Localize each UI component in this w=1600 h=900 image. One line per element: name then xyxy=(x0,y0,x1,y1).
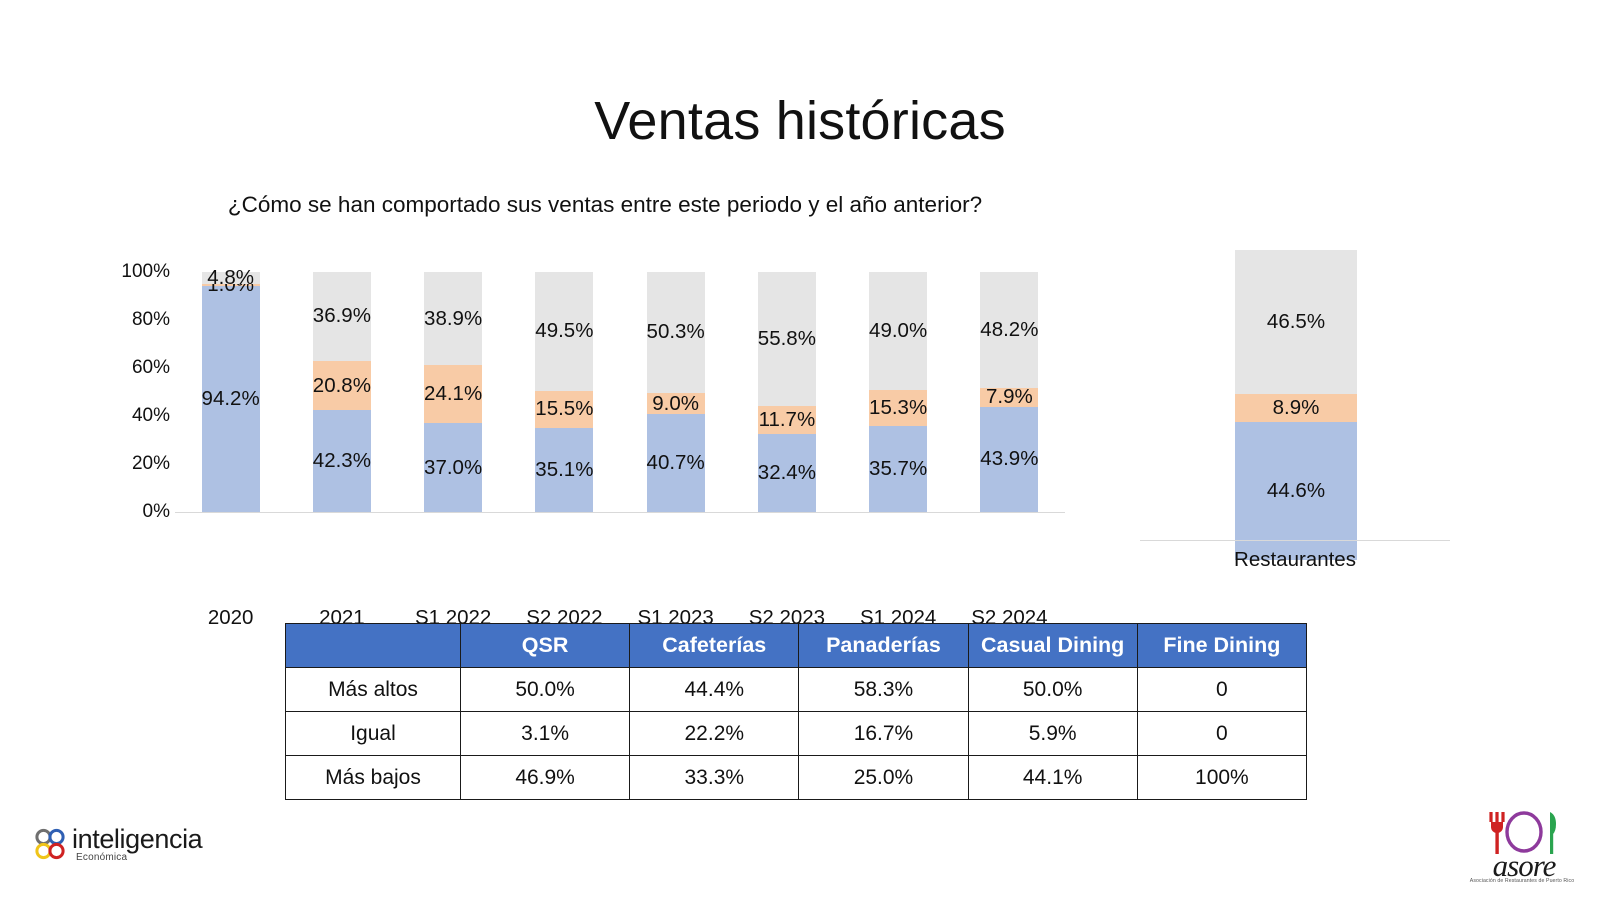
y-axis-tick: 40% xyxy=(90,405,170,427)
chart-subtitle: ¿Cómo se han comportado sus ventas entre… xyxy=(210,190,1000,220)
bar-segment-igual: 11.7% xyxy=(758,406,816,434)
y-axis-tick: 20% xyxy=(90,453,170,475)
right-category-label: Restaurantes xyxy=(1135,548,1455,572)
bar-segment-label: 20.8% xyxy=(313,375,371,396)
table-column-header: Fine Dining xyxy=(1137,624,1306,668)
right-bar-segment-label: 46.5% xyxy=(1267,312,1325,333)
bar-segment-igual: 24.1% xyxy=(424,365,482,423)
bar-group: 42.3%20.8%36.9%2021 xyxy=(286,272,397,512)
bar-segment-bajas: 42.3% xyxy=(313,410,371,512)
table-header-row: QSRCafeteríasPanaderíasCasual DiningFine… xyxy=(286,624,1307,668)
bar-segment-igual: 15.5% xyxy=(535,391,593,428)
bar-segment-bajas: 32.4% xyxy=(758,434,816,512)
stacked-bar: 35.7%15.3%49.0% xyxy=(869,272,927,512)
table-cell: 33.3% xyxy=(630,756,799,800)
bar-segment-label: 42.3% xyxy=(313,451,371,472)
bar-segment-bajas: 40.7% xyxy=(647,414,705,512)
sales-history-stacked-bar-chart: ¿Cómo se han comportado sus ventas entre… xyxy=(90,190,1100,550)
table-row-header: Igual xyxy=(286,712,461,756)
table-cell: 50.0% xyxy=(461,668,630,712)
bar-segment-label: 38.9% xyxy=(424,308,482,329)
table-cell: 44.1% xyxy=(968,756,1137,800)
bar-restaurantes: 44.6%8.9%46.5% xyxy=(1235,250,1357,560)
x-axis-line xyxy=(175,512,1065,513)
inteligencia-wordmark: inteligencia xyxy=(72,824,202,855)
bar-segment-bajas: 35.1% xyxy=(535,428,593,512)
table-cell: 22.2% xyxy=(630,712,799,756)
stacked-bar: 35.1%15.5%49.5% xyxy=(535,272,593,512)
right-bar-segment-altas: 46.5% xyxy=(1235,250,1357,394)
x-axis-category-label: 2020 xyxy=(208,606,254,630)
stacked-bar: 42.3%20.8%36.9% xyxy=(313,272,371,512)
y-axis-tick: 80% xyxy=(90,309,170,331)
bar-group: 32.4%11.7%55.8%S2 2023 xyxy=(731,272,842,512)
y-axis: 100%80%60%40%20%0% xyxy=(90,272,170,512)
bar-group: 35.1%15.5%49.5%S2 2022 xyxy=(509,272,620,512)
bar-segment-altas: 4.8% xyxy=(202,272,260,284)
bar-segment-label: 36.9% xyxy=(313,306,371,327)
bar-segment-label: 50.3% xyxy=(647,322,705,343)
stacked-bar: 32.4%11.7%55.8% xyxy=(758,272,816,512)
y-axis-tick: 0% xyxy=(90,501,170,523)
bar-segment-label: 4.8% xyxy=(207,268,254,289)
bar-segment-altas: 48.2% xyxy=(980,272,1038,388)
bar-segment-igual: 20.8% xyxy=(313,361,371,411)
table-header: QSRCafeteríasPanaderíasCasual DiningFine… xyxy=(286,624,1307,668)
bar-segment-igual: 9.0% xyxy=(647,393,705,415)
table-cell: 16.7% xyxy=(799,712,968,756)
table-column-header: Casual Dining xyxy=(968,624,1137,668)
bar-segment-altas: 36.9% xyxy=(313,272,371,361)
bar-segment-label: 49.5% xyxy=(535,321,593,342)
plot-area: 94.2%1.0%4.8%202042.3%20.8%36.9%202137.0… xyxy=(175,272,1065,512)
y-axis-tick: 60% xyxy=(90,357,170,379)
bar-segment-bajas: 43.9% xyxy=(980,407,1038,512)
bar-segment-label: 48.2% xyxy=(980,320,1038,341)
bar-group: 40.7%9.0%50.3%S1 2023 xyxy=(620,272,731,512)
segment-breakdown-table: QSRCafeteríasPanaderíasCasual DiningFine… xyxy=(285,623,1307,800)
bar-segment-label: 32.4% xyxy=(758,463,816,484)
bar-segment-label: 43.9% xyxy=(980,449,1038,470)
bar-segment-altas: 50.3% xyxy=(647,272,705,393)
bar-segment-altas: 49.0% xyxy=(869,272,927,390)
table-column-header: QSR xyxy=(461,624,630,668)
table-corner-cell xyxy=(286,624,461,668)
table-cell: 0 xyxy=(1137,668,1306,712)
bar-segment-label: 35.7% xyxy=(869,459,927,480)
table-cell: 5.9% xyxy=(968,712,1137,756)
table-row-header: Más altos xyxy=(286,668,461,712)
slide-canvas: Ventas históricas ¿Cómo se han comportad… xyxy=(0,0,1600,900)
stacked-bar: 37.0%24.1%38.9% xyxy=(424,272,482,512)
bar-segment-altas: 38.9% xyxy=(424,272,482,365)
table-row: Más altos50.0%44.4%58.3%50.0%0 xyxy=(286,668,1307,712)
inteligencia-flower-icon xyxy=(34,828,68,862)
stacked-bar: 43.9%7.9%48.2% xyxy=(980,272,1038,512)
right-plot-area: 44.6%8.9%46.5% xyxy=(1135,220,1455,540)
bar-group: 94.2%1.0%4.8%2020 xyxy=(175,272,286,512)
table-cell: 46.9% xyxy=(461,756,630,800)
bar-segment-label: 55.8% xyxy=(758,329,816,350)
bar-segment-label: 15.5% xyxy=(535,399,593,420)
bar-segment-label: 11.7% xyxy=(759,410,816,431)
table-cell: 3.1% xyxy=(461,712,630,756)
stacked-bar: 40.7%9.0%50.3% xyxy=(647,272,705,512)
inteligencia-subword: Económica xyxy=(76,852,127,863)
bar-segment-igual: 15.3% xyxy=(869,390,927,427)
bar-segment-altas: 55.8% xyxy=(758,272,816,406)
table-column-header: Cafeterías xyxy=(630,624,799,668)
bar-segment-label: 7.9% xyxy=(986,387,1033,408)
table-cell: 44.4% xyxy=(630,668,799,712)
stacked-bar: 94.2%1.0%4.8% xyxy=(202,272,260,512)
bar-segment-altas: 49.5% xyxy=(535,272,593,391)
page-title: Ventas históricas xyxy=(0,92,1600,151)
table-cell: 100% xyxy=(1137,756,1306,800)
bar-segment-igual: 7.9% xyxy=(980,388,1038,407)
bar-segment-label: 40.7% xyxy=(647,453,705,474)
bar-group: 35.7%15.3%49.0%S1 2024 xyxy=(843,272,954,512)
bar-segment-label: 37.0% xyxy=(424,457,482,478)
restaurantes-stacked-bar-chart: 44.6%8.9%46.5% Restaurantes xyxy=(1135,200,1455,580)
bar-segment-label: 35.1% xyxy=(535,460,593,481)
bar-segment-label: 49.0% xyxy=(869,321,927,342)
bar-segment-label: 15.3% xyxy=(869,398,927,419)
table-row: Igual3.1%22.2%16.7%5.9%0 xyxy=(286,712,1307,756)
table-cell: 50.0% xyxy=(968,668,1137,712)
bar-segment-label: 24.1% xyxy=(424,384,482,405)
asore-logo: asore Asociación de Restaurantes de Puer… xyxy=(1466,806,1578,888)
y-axis-tick: 100% xyxy=(90,261,170,283)
bar-group: 43.9%7.9%48.2%S2 2024 xyxy=(954,272,1065,512)
right-x-axis-line xyxy=(1140,540,1450,541)
table-cell: 25.0% xyxy=(799,756,968,800)
inteligencia-economica-logo: inteligencia Económica xyxy=(34,822,234,872)
table-cell: 0 xyxy=(1137,712,1306,756)
right-bar-segment-label: 8.9% xyxy=(1273,398,1320,419)
table-column-header: Panaderías xyxy=(799,624,968,668)
table-body: Más altos50.0%44.4%58.3%50.0%0Igual3.1%2… xyxy=(286,668,1307,800)
bar-segment-label: 94.2% xyxy=(202,389,260,410)
table-row-header: Más bajos xyxy=(286,756,461,800)
table-row: Más bajos46.9%33.3%25.0%44.1%100% xyxy=(286,756,1307,800)
bar-segment-bajas: 94.2% xyxy=(202,286,260,512)
bar-segment-bajas: 35.7% xyxy=(869,426,927,512)
bar-group: 37.0%24.1%38.9%S1 2022 xyxy=(398,272,509,512)
bar-segment-bajas: 37.0% xyxy=(424,423,482,512)
asore-tagline: Asociación de Restaurantes de Puerto Ric… xyxy=(1466,878,1578,884)
table-cell: 58.3% xyxy=(799,668,968,712)
right-bar-segment-label: 44.6% xyxy=(1267,481,1325,502)
bar-segment-label: 9.0% xyxy=(652,393,699,414)
right-bar-segment-igual: 8.9% xyxy=(1235,394,1357,422)
